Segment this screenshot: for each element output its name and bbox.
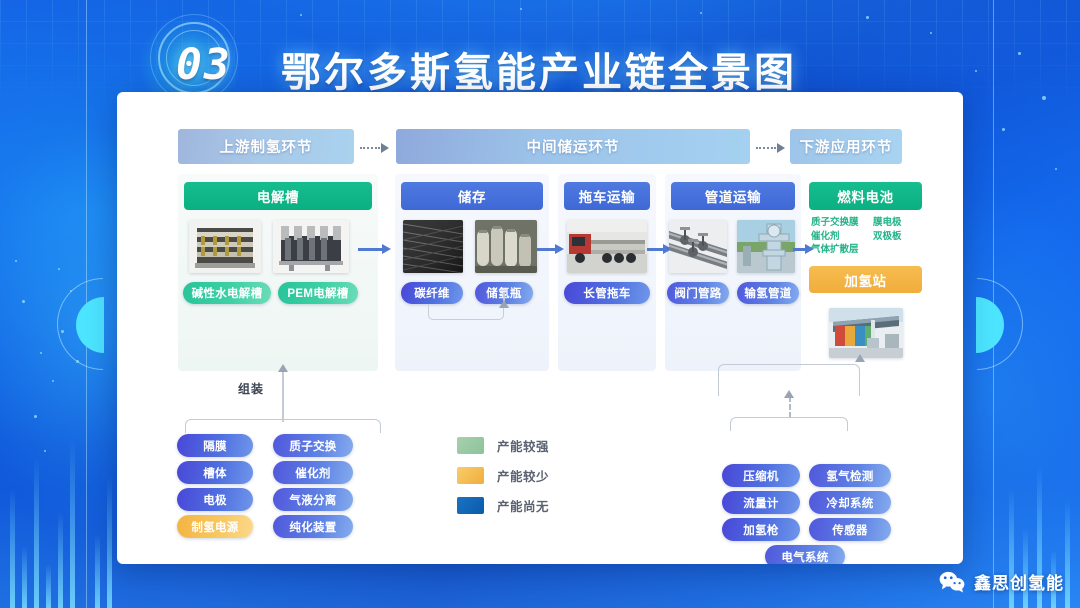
legend-label-weak: 产能较少 [497,466,549,485]
legend-label-strong: 产能较强 [497,436,549,455]
assemble-arrow [278,364,288,372]
photo-pem-electrolyzer [273,220,349,273]
stage-downstream[interactable]: 下游应用环节 [790,129,902,164]
pill-part-purification[interactable]: 纯化装置 [273,515,353,538]
fuel-cell-component-list: 质子交换膜 膜电极 催化剂 双极板 气体扩散层 [811,216,931,257]
decor-half-circle-left-fill [76,297,104,353]
pill-part-cell-body[interactable]: 槽体 [177,461,253,484]
photo-refueling-station [829,308,903,358]
stage-arrow-2 [756,142,785,154]
photo-hydrogen-pipeline [737,220,795,273]
category-pipeline[interactable]: 管道运输 [671,182,795,210]
pill-alkaline-electrolyzer[interactable]: 碱性水电解槽 [183,282,271,304]
pill-pem-electrolyzer[interactable]: PEM电解槽 [278,282,358,304]
page-title: 鄂尔多斯氢能产业链全景图 [281,40,797,98]
pill-cooling-system[interactable]: 冷却系统 [809,491,891,514]
flow-arrow-electrolyzer-storage [358,244,391,254]
pill-flow-meter[interactable]: 流量计 [722,491,800,514]
fuel-cell-component-0: 质子交换膜 [811,216,873,230]
connector-cylinder-arrow [499,300,509,308]
pill-sensor[interactable]: 传感器 [809,518,891,541]
section-number: 03 [176,40,232,90]
flow-arrow-storage-trailer [537,244,564,254]
pill-part-electrode[interactable]: 电极 [177,488,253,511]
stage-arrow-1 [360,142,389,154]
pill-hydrogen-detection[interactable]: 氢气检测 [809,464,891,487]
pill-valve-piping[interactable]: 阀门管路 [667,282,729,304]
fuel-cell-component-1: 膜电极 [873,216,931,230]
pill-electrical-system[interactable]: 电气系统 [765,545,845,564]
pill-part-proton-exchange[interactable]: 质子交换 [273,434,353,457]
legend-item-strong: 产能较强 [457,430,549,460]
category-trailer[interactable]: 拖车运输 [564,182,650,210]
station-dashed-arrow [784,390,794,398]
assemble-stem [282,370,284,422]
station-inner-bracket [730,417,848,431]
station-dashed-stem [789,396,791,418]
photo-hydrogen-cylinders [475,220,537,273]
photo-carbon-fiber [403,220,463,273]
pill-hydrogen-nozzle[interactable]: 加氢枪 [722,518,800,541]
category-fuel-cell[interactable]: 燃料电池 [809,182,922,210]
category-storage[interactable]: 储存 [401,182,543,210]
diagram-card: 上游制氢环节 中间储运环节 下游应用环节 电解槽 储存 拖车运输 管道运输 燃料… [117,92,963,564]
pill-part-membrane[interactable]: 隔膜 [177,434,253,457]
legend-item-none: 产能尚无 [457,490,549,520]
category-refueling-station[interactable]: 加氢站 [809,266,922,293]
stage-midstream[interactable]: 中间储运环节 [396,129,750,164]
legend-swatch-none [457,497,484,514]
connector-carbonfiber-cylinder [428,304,504,320]
stage-upstream[interactable]: 上游制氢环节 [178,129,354,164]
photo-tube-trailer [567,220,647,273]
fuel-cell-component-4: 气体扩散层 [811,243,873,257]
photo-alkaline-electrolyzer [189,220,261,273]
page-header: 03 鄂尔多斯氢能产业链全景图 [0,14,1080,84]
pill-carbon-fiber[interactable]: 碳纤维 [401,282,463,304]
station-outer-arrow [855,354,865,362]
legend-swatch-weak [457,467,484,484]
pill-part-gas-liquid-sep[interactable]: 气液分离 [273,488,353,511]
pill-part-catalyst[interactable]: 催化剂 [273,461,353,484]
legend-item-weak: 产能较少 [457,460,549,490]
watermark: 鑫思创氢能 [939,569,1064,594]
legend: 产能较强 产能较少 产能尚无 [457,430,549,520]
watermark-text: 鑫思创氢能 [974,569,1064,594]
assemble-label: 组装 [238,380,264,397]
pill-tube-trailer[interactable]: 长管拖车 [564,282,650,304]
pill-hydrogen-pipeline[interactable]: 输氢管道 [737,282,799,304]
pill-part-power-supply[interactable]: 制氢电源 [177,515,253,538]
fuel-cell-component-2: 催化剂 [811,230,873,244]
photo-pipeline-valves [669,220,727,273]
decor-half-circle-right-fill [976,297,1004,353]
legend-label-none: 产能尚无 [497,496,549,515]
legend-swatch-strong [457,437,484,454]
wechat-icon [939,571,965,593]
category-electrolyzer[interactable]: 电解槽 [184,182,372,210]
assemble-bracket [185,419,381,433]
fuel-cell-component-3: 双极板 [873,230,931,244]
pill-compressor[interactable]: 压缩机 [722,464,800,487]
